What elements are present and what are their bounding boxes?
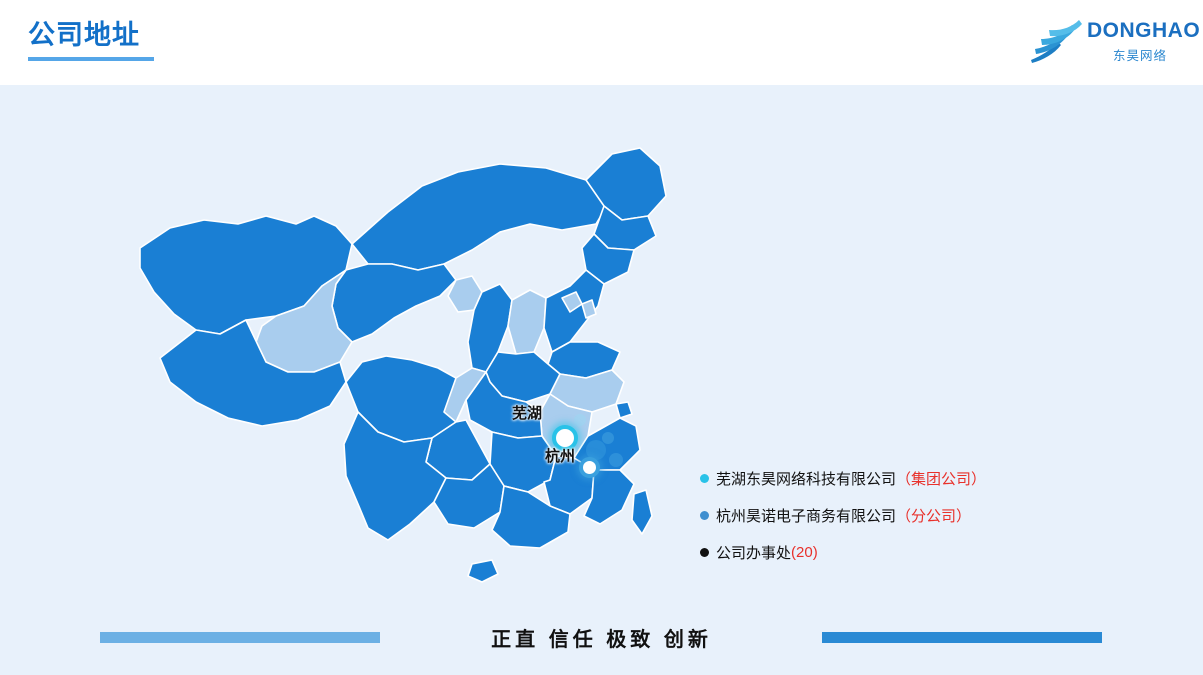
china-map-svg	[100, 120, 700, 600]
legend-bullet-icon	[700, 511, 709, 520]
legend: 芜湖东昊网络科技有限公司 （集团公司） 杭州昊诺电子商务有限公司 （分公司） 公…	[700, 460, 1170, 571]
legend-label: 芜湖东昊网络科技有限公司	[716, 468, 896, 489]
footer-bar-right	[822, 632, 1102, 643]
legend-item-group-company: 芜湖东昊网络科技有限公司 （集团公司）	[700, 460, 1170, 497]
legend-bullet-icon	[700, 474, 709, 483]
legend-bullet-icon	[700, 548, 709, 557]
legend-label: 公司办事处	[716, 542, 791, 563]
slide: 公司地址 DONGHAO 东昊网络	[0, 0, 1203, 675]
legend-item-offices: 公司办事处 (20)	[700, 534, 1170, 571]
page-title-block: 公司地址	[28, 18, 154, 61]
title-underline	[28, 57, 154, 61]
china-map: 芜湖 杭州	[100, 120, 700, 600]
slide-header: 公司地址 DONGHAO 东昊网络	[0, 0, 1203, 85]
legend-tag: （分公司）	[896, 505, 971, 526]
map-label-wuhu: 芜湖	[512, 402, 542, 423]
legend-tag: (20)	[791, 544, 818, 561]
logo-text-sub: 东昊网络	[1113, 45, 1167, 64]
hangzhou-marker[interactable]	[579, 457, 600, 478]
legend-tag: （集团公司）	[896, 468, 986, 489]
logo-text-main: DONGHAO	[1087, 19, 1200, 43]
fan-logo-icon	[1025, 16, 1085, 66]
legend-label: 杭州昊诺电子商务有限公司	[716, 505, 896, 526]
map-label-hangzhou: 杭州	[545, 445, 575, 466]
page-title: 公司地址	[28, 18, 154, 52]
legend-item-branch-company: 杭州昊诺电子商务有限公司 （分公司）	[700, 497, 1170, 534]
company-logo: DONGHAO 东昊网络	[1025, 12, 1185, 70]
